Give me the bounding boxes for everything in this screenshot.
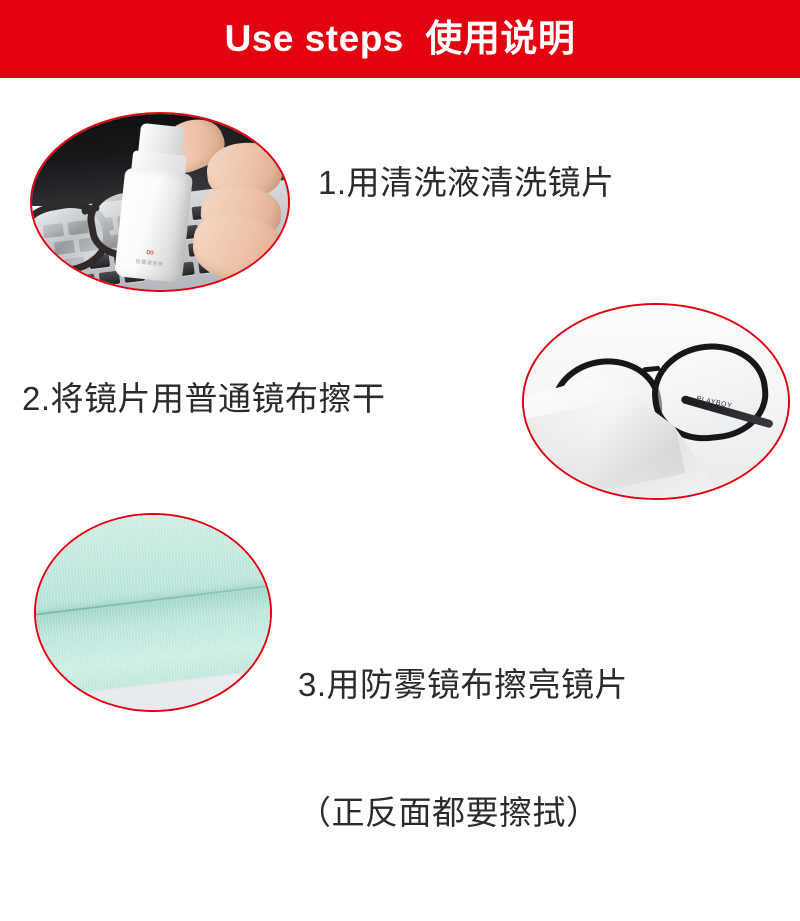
bottle-body-shape: ∞ 防雾清洁液 xyxy=(114,167,193,282)
bottle-label-text: 防雾清洁液 xyxy=(135,258,163,268)
header-banner: Use steps 使用说明 xyxy=(0,0,800,78)
infinity-logo-icon: ∞ xyxy=(146,246,156,259)
step-2-photo-inner: PLAYBOY xyxy=(524,305,788,498)
step-1-text: 1.用清洗液清洗镜片 xyxy=(318,162,615,205)
step-2-text: 2.将镜片用普通镜布擦干 xyxy=(22,378,386,421)
step-3-text: 3.用防雾镜布擦亮镜片 （正反面都要擦拭） xyxy=(298,578,628,921)
step-3-photo-mint-microfiber-anti-fog-cloth xyxy=(34,513,272,712)
step-1-photo-inner: ∞ 防雾清洁液 xyxy=(32,114,288,290)
step-3-text-line-1: 3.用防雾镜布擦亮镜片 xyxy=(298,664,628,707)
step-3-text-line-2: （正反面都要擦拭） xyxy=(298,792,628,835)
step-1-photo-spray-bottle-over-glasses-on-keyboard: ∞ 防雾清洁液 xyxy=(30,112,290,292)
page-title: Use steps 使用说明 xyxy=(225,20,576,57)
step-2-photo-glasses-with-white-cloth: PLAYBOY xyxy=(522,303,790,500)
step-3-photo-inner xyxy=(36,515,270,710)
spray-bottle-shape: ∞ 防雾清洁液 xyxy=(111,121,204,283)
